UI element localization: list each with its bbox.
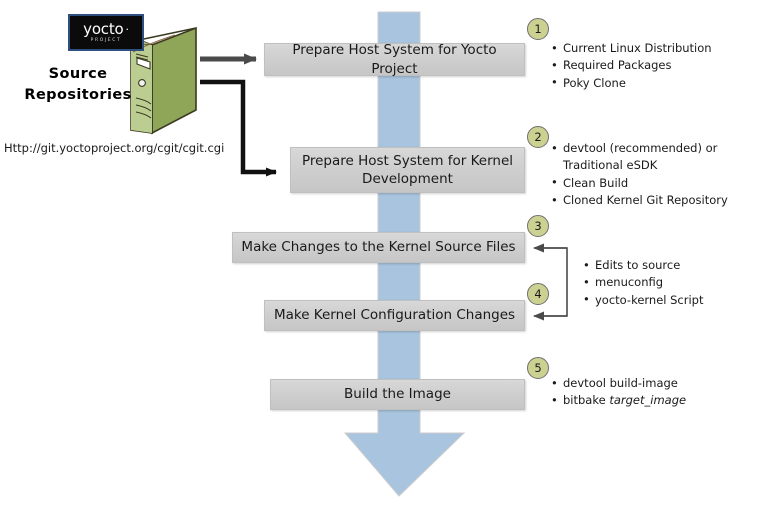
note-item: devtool (recommended) or Traditional eSD… [551,140,763,175]
step-number-3: 3 [527,215,549,237]
logo-dot: · [124,23,129,36]
connector-notes-to-step3-step4 [534,248,567,316]
step-1-notes: Current Linux DistributionRequired Packa… [551,40,761,92]
note-item: Current Linux Distribution [551,40,761,57]
step-2-notes: devtool (recommended) or Traditional eSD… [551,140,763,210]
step-box-make-kernel-source-changes[interactable]: Make Changes to the Kernel Source Files [232,232,525,263]
step-box-make-kernel-config-changes[interactable]: Make Kernel Configuration Changes [264,300,525,331]
step-number-4: 4 [527,283,549,305]
connector-server-to-step2 [200,82,276,172]
source-repositories-label: Source Repositories [14,64,142,106]
step-2-note-list: devtool (recommended) or Traditional eSD… [551,140,763,210]
step-3-4-note-list: Edits to sourcemenuconfigyocto-kernel Sc… [583,257,768,309]
note-item: menuconfig [583,274,768,291]
step-box-build-image[interactable]: Build the Image [270,379,525,410]
note-item: Required Packages [551,57,761,74]
step-box-prepare-host-kernel[interactable]: Prepare Host System for Kernel Developme… [290,147,525,193]
step-box-prepare-host-yocto[interactable]: Prepare Host System for Yocto Project [264,43,525,76]
logo-word-text: yocto [83,20,123,38]
step-5-note-list: devtool build-imagebitbake target_image [551,375,756,410]
step-3-4-shared-notes: Edits to sourcemenuconfigyocto-kernel Sc… [583,257,768,309]
source-repository-url: Http://git.yoctoproject.org/cgit/cgit.cg… [4,141,224,155]
note-italic-term: target_image [609,393,686,407]
yocto-project-logo: yocto· PROJECT [68,14,144,51]
diagram-canvas: yocto· PROJECT Source Repositories Http:… [0,0,769,517]
note-item: yocto-kernel Script [583,292,768,309]
step-number-5: 5 [527,357,549,379]
step-number-2: 2 [527,126,549,148]
note-item: devtool build-image [551,375,756,392]
step-number-1: 1 [527,18,549,40]
note-item: bitbake target_image [551,392,756,409]
note-item: Clean Build [551,175,763,192]
step-5-notes: devtool build-imagebitbake target_image [551,375,756,410]
logo-subtitle: PROJECT [91,39,122,44]
note-item: Edits to source [583,257,768,274]
logo-wordmark: yocto· [83,22,129,37]
note-item: Cloned Kernel Git Repository [551,192,763,209]
note-item: Poky Clone [551,75,761,92]
step-1-note-list: Current Linux DistributionRequired Packa… [551,40,761,92]
